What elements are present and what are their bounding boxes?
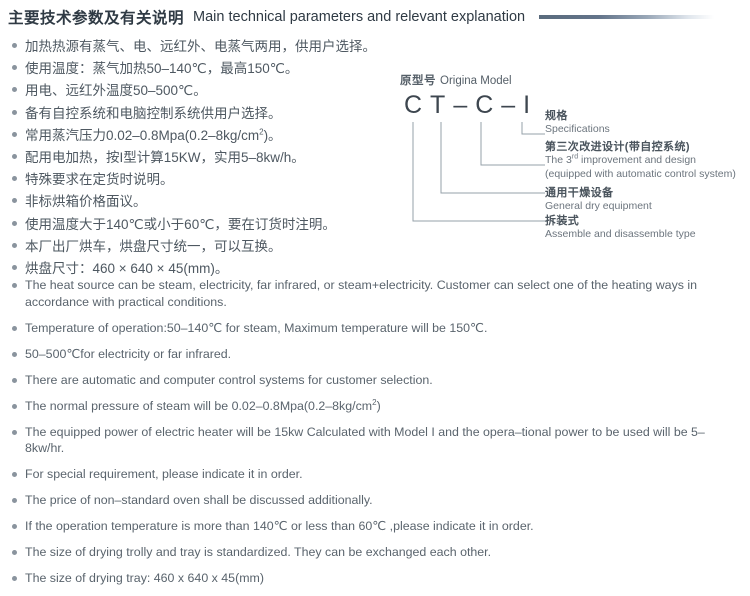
list-item: 加热热源有蒸气、电、远红外、电蒸气两用，供用户选择。 [10,36,400,58]
leader-line-third-improvement [481,122,545,165]
list-item: 备有自控系统和电脑控制系统供用户选择。 [10,103,400,125]
list-item: The heat source can be steam, electricit… [10,277,740,310]
list-item: 非标烘箱价格面议。 [10,191,400,213]
list-item: The size of drying trolly and tray is st… [10,544,740,561]
list-item: The equipped power of electric heater wi… [10,424,740,457]
model-label-third-improvement: 第三次改进设计(带自控系统) The 3rd improvement and d… [545,140,736,181]
page-title-chinese: 主要技术参数及有关说明 [8,6,184,28]
list-item: The price of non–standard oven shall be … [10,492,740,509]
list-item: 特殊要求在定货时说明。 [10,169,400,191]
pressure-text-prefix: 常用蒸汽压力0.02–0.8Mpa(0.2–8kg/cm [25,128,259,143]
label-chinese: 通用干燥设备 [545,186,652,200]
model-label-specifications: 规格 Specifications [545,109,610,137]
list-item: 使用温度大于140℃或小于60℃，要在订货时注明。 [10,214,400,236]
page-header: 主要技术参数及有关说明 Main technical parameters an… [8,2,742,32]
list-item-steam-pressure: 常用蒸汽压力0.02–0.8Mpa(0.2–8kg/cm2)。 [10,125,400,147]
pressure-text-prefix: The normal pressure of steam will be 0.0… [25,399,372,413]
list-item: 使用温度：蒸气加热50–140℃，最高150℃。 [10,58,400,80]
list-item: 配用电加热，按I型计算15KW，实用5–8kw/h。 [10,147,400,169]
list-item: For special requirement, please indicate… [10,466,740,483]
label-chinese: 规格 [545,109,610,123]
label-chinese: 拆装式 [545,214,696,228]
model-label-assemble-type: 拆装式 Assemble and disassemble type [545,214,696,242]
leader-line-assemble-type [413,122,545,221]
list-item: The size of drying tray: 460 x 640 x 45(… [10,570,740,587]
leader-line-general-dry-equipment [441,122,545,193]
model-label-general-dry-equipment: 通用干燥设备 General dry equipment [545,186,652,214]
list-item: 本厂出厂烘车，烘盘尺寸统一，可以互换。 [10,236,400,258]
label-chinese: 第三次改进设计(带自控系统) [545,140,736,154]
label-english: Assemble and disassemble type [545,228,696,242]
label-english-line1: The 3rd improvement and design [545,154,736,168]
label-english-suffix: improvement and design [578,154,696,166]
list-item: Temperature of operation:50–140℃ for ste… [10,320,740,337]
page-title-english: Main technical parameters and relevant e… [193,9,525,25]
list-item: If the operation temperature is more tha… [10,518,740,535]
pressure-text-suffix: )。 [264,128,282,143]
list-item-steam-pressure: The normal pressure of steam will be 0.0… [10,398,740,415]
chinese-specification-list: 加热热源有蒸气、电、远红外、电蒸气两用，供用户选择。 使用温度：蒸气加热50–1… [10,36,400,280]
label-english: Specifications [545,123,610,137]
model-code-diagram: 原型号Origina Model CT–C–I 规格 Specification… [398,72,746,240]
header-rule-decoration [539,15,714,19]
label-english-line2: (equipped with automatic control system) [545,168,736,182]
english-specification-list: The heat source can be steam, electricit… [10,277,740,596]
pressure-text-suffix: ) [377,399,381,413]
list-item: There are automatic and computer control… [10,372,740,389]
leader-line-specifications [522,122,545,134]
list-item: 50–500℃for electricity or far infrared. [10,346,740,363]
label-english-prefix: The 3 [545,154,572,166]
list-item: 用电、远红外温度50–500℃。 [10,80,400,102]
label-english: General dry equipment [545,200,652,214]
